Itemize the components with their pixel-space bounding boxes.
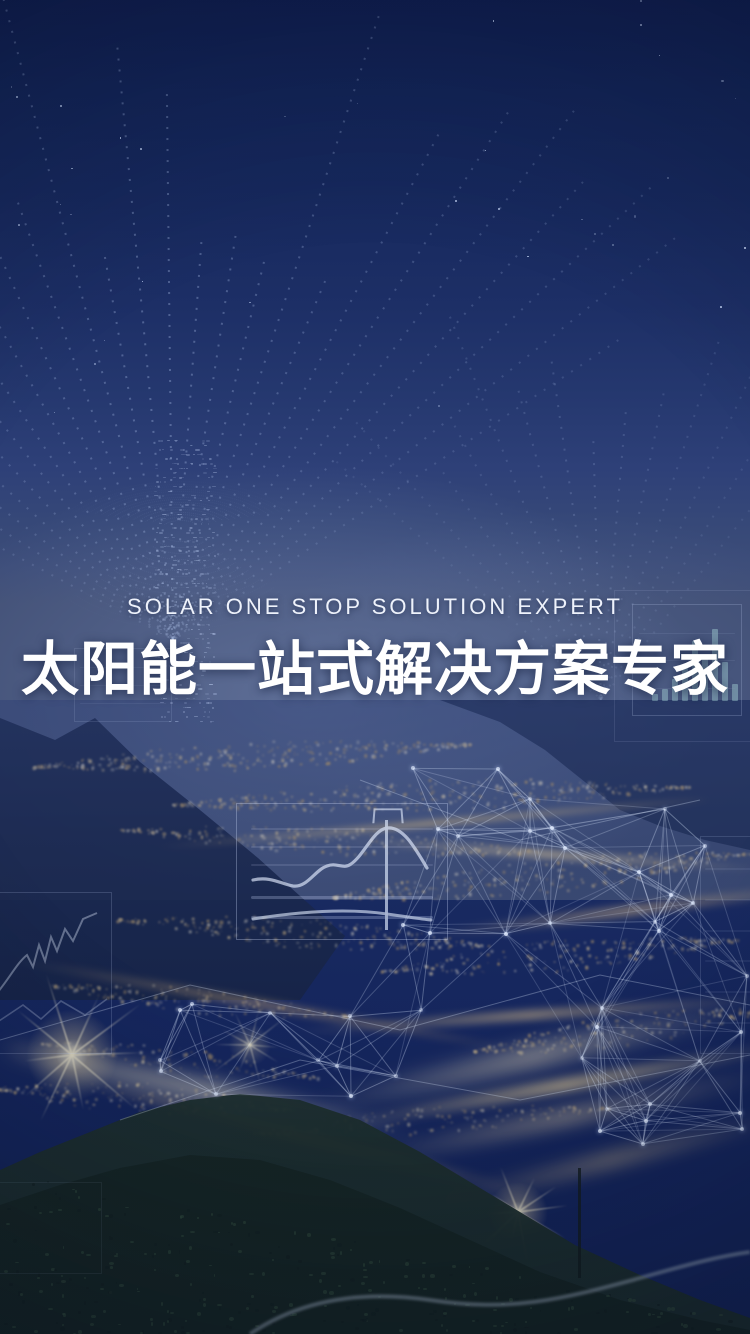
city-light xyxy=(674,869,677,872)
city-light xyxy=(311,828,313,830)
city-light xyxy=(176,1094,179,1097)
city-light xyxy=(655,946,656,947)
city-light xyxy=(388,891,391,893)
city-light xyxy=(383,885,384,886)
foliage-speck xyxy=(378,1296,381,1298)
city-light xyxy=(451,970,453,972)
city-light xyxy=(130,829,132,831)
flare-spike xyxy=(249,1011,259,1045)
city-light xyxy=(545,967,547,968)
city-light xyxy=(345,926,348,929)
city-light xyxy=(301,1076,304,1079)
city-light xyxy=(399,892,401,894)
city-light xyxy=(33,766,36,769)
city-light xyxy=(282,759,284,761)
foliage-speck xyxy=(4,1270,8,1273)
city-light xyxy=(410,839,412,841)
city-light xyxy=(604,862,607,864)
city-light xyxy=(552,1044,556,1047)
city-light xyxy=(284,1069,286,1072)
city-light xyxy=(172,804,174,806)
tower-burst-arc xyxy=(160,520,202,543)
city-light xyxy=(221,930,222,931)
city-light xyxy=(525,849,526,850)
network-node xyxy=(419,1008,423,1012)
city-light xyxy=(610,787,611,788)
foliage-speck xyxy=(209,1265,212,1267)
city-light xyxy=(204,1097,205,1098)
city-light xyxy=(622,941,624,942)
city-light xyxy=(127,757,129,759)
foliage-speck xyxy=(103,1310,106,1314)
dotted-ray xyxy=(172,110,574,641)
city-light xyxy=(473,1120,476,1123)
city-light xyxy=(98,763,101,766)
city-light xyxy=(347,1116,351,1119)
foliage-speck xyxy=(161,1302,163,1305)
city-light xyxy=(116,986,118,988)
city-light xyxy=(350,897,352,899)
city-light xyxy=(160,756,163,759)
city-light xyxy=(142,924,143,925)
city-light xyxy=(679,855,681,857)
green-hill-front xyxy=(0,700,750,1334)
city-light xyxy=(494,806,496,808)
tower-data-dot xyxy=(184,468,186,469)
foliage-speck xyxy=(190,1231,195,1233)
dotted-ray xyxy=(172,181,583,640)
city-light xyxy=(593,782,594,783)
city-light xyxy=(481,944,483,946)
tower-data-dot xyxy=(190,445,192,447)
city-light xyxy=(288,930,291,933)
city-light xyxy=(235,924,236,925)
city-light xyxy=(263,942,264,943)
city-light xyxy=(577,945,580,948)
city-light xyxy=(270,809,273,811)
city-light xyxy=(510,1046,513,1049)
tower-data-dot xyxy=(186,583,188,585)
foliage-speck xyxy=(150,1318,153,1321)
city-light xyxy=(382,809,384,811)
city-light xyxy=(653,938,654,939)
city-light xyxy=(295,746,297,748)
city-light xyxy=(445,848,447,850)
city-light xyxy=(127,765,130,768)
city-light xyxy=(122,1093,123,1094)
tower-data-dot xyxy=(200,721,203,722)
city-light xyxy=(222,827,224,830)
city-light xyxy=(73,989,77,993)
city-light xyxy=(542,1043,545,1046)
city-light xyxy=(437,744,439,746)
foliage-speck xyxy=(435,1319,439,1321)
foliage-speck xyxy=(270,1303,273,1306)
city-light xyxy=(169,766,171,767)
city-light xyxy=(675,786,678,789)
city-light xyxy=(435,940,438,943)
city-light xyxy=(310,793,313,795)
city-light xyxy=(209,994,212,997)
city-light xyxy=(90,984,92,986)
city-light xyxy=(422,943,426,947)
city-light xyxy=(372,891,375,894)
city-light xyxy=(584,863,587,866)
tower-data-dot xyxy=(177,514,179,515)
foliage-speck xyxy=(493,1309,497,1311)
city-light xyxy=(211,930,212,932)
city-light xyxy=(551,1109,554,1112)
city-light xyxy=(260,834,263,838)
city-light xyxy=(493,883,496,886)
city-light xyxy=(450,957,453,960)
city-light xyxy=(485,852,487,854)
city-light xyxy=(263,795,266,798)
city-light xyxy=(270,1107,272,1110)
city-light xyxy=(146,753,148,755)
city-light xyxy=(39,767,41,769)
city-light xyxy=(185,1010,187,1012)
light-trail xyxy=(330,835,750,875)
city-light xyxy=(427,887,430,890)
city-light xyxy=(685,861,687,863)
city-light xyxy=(457,781,460,783)
city-light xyxy=(260,1131,263,1134)
tower-data-dot xyxy=(164,546,166,548)
city-light xyxy=(214,920,218,924)
city-light xyxy=(155,759,158,762)
network-node xyxy=(745,974,749,978)
dotted-ray xyxy=(0,89,173,640)
city-light xyxy=(293,1125,296,1127)
city-light xyxy=(421,1109,424,1112)
tower-data-dot xyxy=(158,569,160,570)
city-light xyxy=(564,940,566,942)
city-light xyxy=(340,831,341,832)
city-light xyxy=(401,750,403,752)
foliage-speck xyxy=(604,1309,607,1312)
city-light xyxy=(204,1051,207,1054)
city-light xyxy=(343,752,346,754)
city-light xyxy=(482,1048,485,1051)
city-light xyxy=(270,842,273,845)
city-light xyxy=(237,927,238,928)
city-light xyxy=(553,790,555,792)
star-dot xyxy=(720,306,722,308)
city-light xyxy=(35,1087,37,1089)
city-light xyxy=(484,799,485,800)
city-light xyxy=(115,985,118,988)
star-dot xyxy=(612,244,613,245)
foliage-speck xyxy=(59,1197,61,1200)
city-light xyxy=(498,878,502,881)
city-light xyxy=(600,962,602,964)
city-light xyxy=(593,885,595,887)
city-light xyxy=(490,845,493,848)
city-light xyxy=(665,1013,666,1014)
tower-data-dot xyxy=(179,468,182,470)
city-light xyxy=(359,896,361,898)
light-trail xyxy=(66,1072,535,1200)
city-light xyxy=(528,850,529,851)
city-light xyxy=(430,1129,434,1133)
city-light xyxy=(182,805,184,807)
tower-data-dot xyxy=(202,587,204,588)
city-light xyxy=(402,969,404,971)
city-light xyxy=(479,795,482,798)
city-light xyxy=(417,742,420,744)
city-light xyxy=(310,759,313,762)
city-light xyxy=(528,796,531,799)
dotted-ray xyxy=(17,202,174,640)
foliage-speck xyxy=(86,1254,91,1256)
city-light xyxy=(50,1085,52,1086)
city-light xyxy=(531,802,534,806)
city-light xyxy=(366,926,369,929)
city-light xyxy=(640,866,641,868)
city-light xyxy=(631,858,633,860)
city-light xyxy=(339,839,342,841)
tower-data-dot xyxy=(162,449,164,450)
city-light xyxy=(557,869,560,872)
tower-data-dot xyxy=(194,716,198,717)
tower-data-dot xyxy=(161,716,163,718)
city-light xyxy=(333,897,337,900)
city-light xyxy=(474,1050,477,1053)
city-light xyxy=(59,986,60,988)
foliage-speck xyxy=(656,1326,660,1328)
network-node xyxy=(348,1014,352,1018)
city-light xyxy=(289,829,290,830)
city-light xyxy=(122,829,125,832)
city-light xyxy=(254,801,257,804)
foliage-speck xyxy=(247,1303,251,1305)
city-light xyxy=(261,1133,263,1135)
foliage-speck xyxy=(144,1253,146,1255)
city-light xyxy=(254,1132,256,1134)
city-light xyxy=(343,1014,346,1016)
tower-data-dot xyxy=(202,458,204,459)
city-light xyxy=(434,840,436,842)
city-light xyxy=(576,886,579,889)
city-light xyxy=(88,1048,92,1052)
city-light xyxy=(534,960,537,962)
city-light xyxy=(138,1098,140,1100)
city-light xyxy=(7,1090,9,1092)
city-light xyxy=(168,1113,171,1116)
city-light xyxy=(133,1099,135,1101)
city-light xyxy=(711,945,712,947)
city-light xyxy=(355,747,358,749)
dotted-ray xyxy=(0,66,174,640)
flare-spike xyxy=(40,1055,73,1121)
city-light xyxy=(570,872,573,875)
city-light xyxy=(284,1109,286,1111)
city-light xyxy=(375,837,376,838)
city-light xyxy=(606,956,609,958)
foliage-speck xyxy=(357,1304,359,1306)
city-light xyxy=(73,768,74,769)
city-light xyxy=(150,831,152,833)
city-light xyxy=(218,1014,221,1017)
city-light xyxy=(127,1046,129,1048)
network-node xyxy=(580,1056,584,1060)
city-light xyxy=(647,947,649,949)
city-light xyxy=(76,990,78,992)
tower-data-dot xyxy=(187,707,191,709)
city-light xyxy=(571,863,572,864)
foliage-speck xyxy=(433,1310,437,1313)
network-node xyxy=(641,1142,645,1146)
city-light xyxy=(77,1098,79,1100)
city-light xyxy=(306,746,308,749)
city-light xyxy=(425,965,428,968)
city-light xyxy=(719,941,721,943)
city-light xyxy=(483,1119,485,1121)
flare-spike xyxy=(517,1212,528,1261)
city-light xyxy=(402,890,404,892)
city-light xyxy=(402,747,405,750)
tower-data-dot xyxy=(172,537,175,539)
city-light xyxy=(607,961,608,962)
city-light xyxy=(163,1070,166,1073)
city-light xyxy=(272,922,274,924)
city-light xyxy=(134,1064,137,1067)
city-light xyxy=(600,861,603,864)
city-light xyxy=(482,1109,485,1113)
network-node xyxy=(428,931,432,935)
tower-data-dot xyxy=(189,527,193,529)
city-light xyxy=(478,1124,482,1127)
city-light xyxy=(344,894,348,898)
city-light xyxy=(185,1106,188,1109)
city-light xyxy=(284,762,287,765)
city-light xyxy=(438,946,441,949)
city-light xyxy=(738,939,739,940)
foliage-speck xyxy=(246,1307,249,1310)
city-light xyxy=(186,923,187,924)
city-light xyxy=(66,1097,67,1098)
tower-data-dot xyxy=(157,569,160,571)
city-light xyxy=(13,1091,16,1094)
city-light xyxy=(325,758,328,760)
city-light xyxy=(385,937,388,940)
city-light xyxy=(335,944,338,947)
tower-data-dot xyxy=(212,486,216,487)
city-light xyxy=(144,920,146,921)
city-light xyxy=(322,932,323,934)
city-light xyxy=(47,765,49,767)
city-light xyxy=(440,962,441,964)
city-light xyxy=(696,944,699,947)
city-light xyxy=(301,846,304,848)
star-dot xyxy=(94,363,96,365)
foliage-speck xyxy=(61,1280,66,1283)
city-light xyxy=(169,1102,171,1103)
foliage-speck xyxy=(189,1246,192,1249)
city-light xyxy=(678,937,680,939)
city-light xyxy=(597,1023,599,1025)
city-light xyxy=(530,867,533,870)
city-light xyxy=(424,749,427,753)
city-light xyxy=(460,782,461,783)
city-light xyxy=(424,838,427,841)
city-light xyxy=(92,1103,95,1105)
tower-data-dot xyxy=(208,578,210,580)
city-light xyxy=(114,761,116,762)
city-light xyxy=(501,1119,504,1122)
foliage-speck xyxy=(404,1275,408,1279)
city-light xyxy=(209,1091,211,1093)
city-light xyxy=(530,850,533,853)
city-light xyxy=(398,746,400,748)
city-light xyxy=(395,968,397,970)
city-light xyxy=(525,871,526,873)
city-light xyxy=(679,860,682,863)
foliage-speck xyxy=(443,1312,447,1314)
city-light xyxy=(497,845,499,847)
foliage-speck xyxy=(501,1325,504,1327)
city-light xyxy=(395,851,397,854)
city-light xyxy=(672,788,673,789)
city-light xyxy=(474,945,476,947)
foliage-speck xyxy=(168,1318,172,1322)
foliage-speck xyxy=(329,1291,333,1295)
city-light xyxy=(535,943,537,945)
city-light xyxy=(513,793,516,796)
city-light xyxy=(218,1060,221,1063)
city-light xyxy=(502,1049,503,1050)
city-light xyxy=(320,828,323,831)
tower-burst-arc xyxy=(152,517,210,548)
city-light xyxy=(516,888,517,889)
city-light xyxy=(478,946,480,948)
dotted-ray xyxy=(3,0,174,640)
city-light xyxy=(599,862,602,865)
tower-data-dot xyxy=(172,527,176,529)
foliage-speck xyxy=(243,1221,245,1224)
city-light xyxy=(4,1089,7,1091)
city-light xyxy=(80,1045,82,1046)
star-dot xyxy=(744,247,745,248)
city-light xyxy=(625,870,627,871)
city-light xyxy=(227,754,231,757)
city-light xyxy=(591,884,595,888)
city-light xyxy=(609,961,611,963)
city-light xyxy=(380,786,382,788)
city-light xyxy=(479,1048,481,1049)
tower-data-dot xyxy=(207,716,210,718)
network-node xyxy=(595,1025,599,1029)
city-light xyxy=(265,797,268,799)
city-light xyxy=(205,769,207,771)
city-light xyxy=(400,947,402,949)
city-light xyxy=(385,744,388,747)
city-light xyxy=(483,1048,486,1050)
star-dot xyxy=(60,105,62,107)
tower-data-dot xyxy=(199,532,202,534)
city-light xyxy=(159,1092,162,1095)
city-light xyxy=(474,794,476,795)
city-light xyxy=(500,786,503,789)
city-light xyxy=(464,743,467,745)
city-light xyxy=(344,834,345,836)
city-light xyxy=(329,752,332,754)
city-light xyxy=(326,836,328,838)
city-light xyxy=(431,790,434,794)
city-light xyxy=(464,786,466,788)
city-light xyxy=(365,745,367,747)
